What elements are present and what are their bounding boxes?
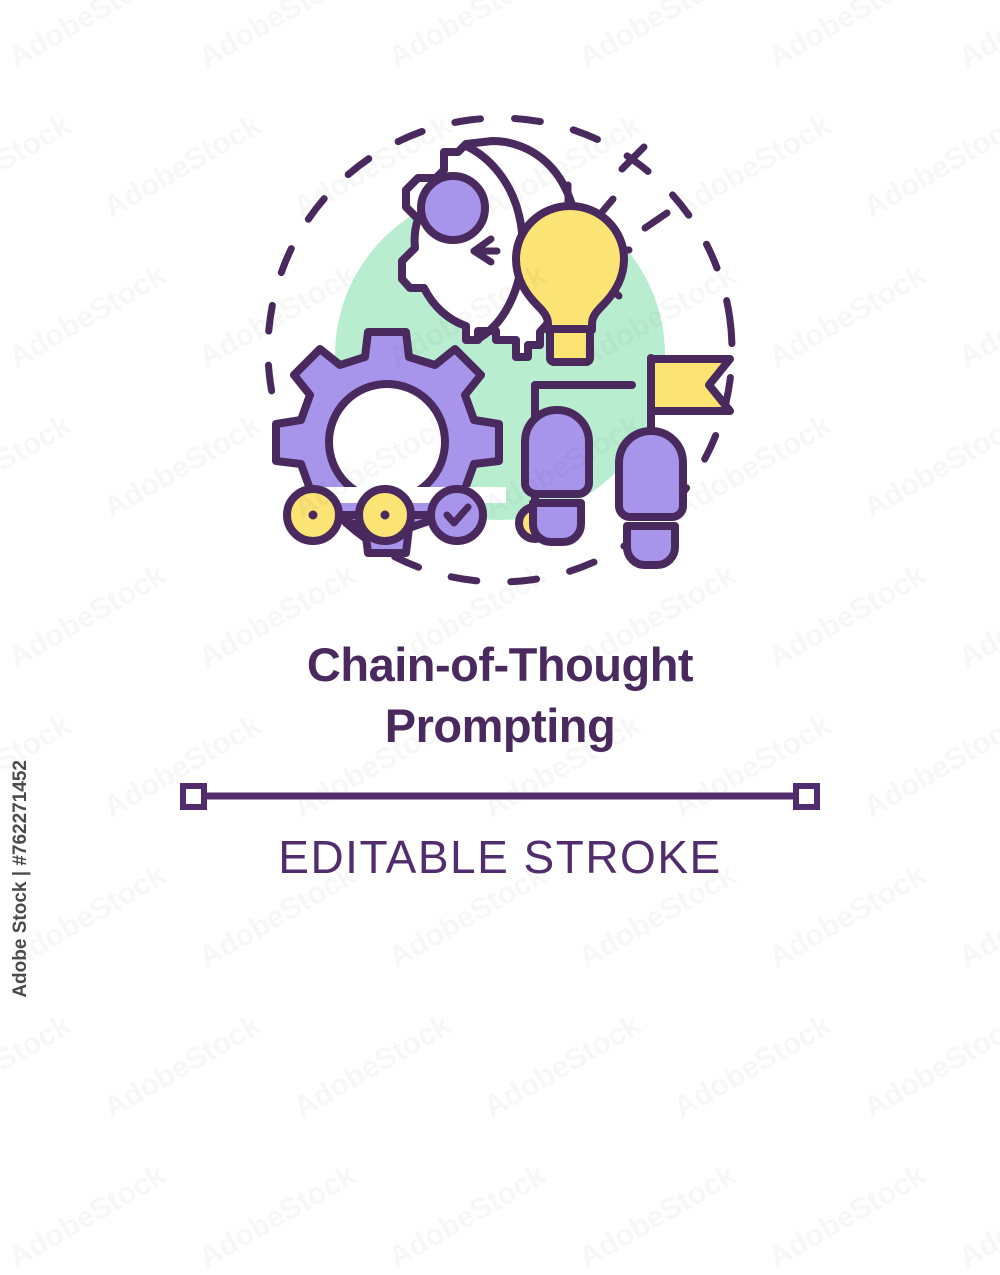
- watermark-tile: AdobeStock: [383, 1159, 552, 1275]
- head-node-circle: [421, 176, 485, 240]
- chain-nodes-group: [287, 489, 483, 541]
- editable-stroke-label: EDITABLE STROKE: [0, 822, 1000, 884]
- editable-stroke-block: EDITABLE STROKE: [0, 775, 1000, 884]
- watermark-tile: AdobeStock: [288, 1009, 457, 1126]
- separator-handle-right: [796, 786, 817, 807]
- footprint-right-sole: [619, 431, 683, 517]
- chain-node-1-dot: [309, 511, 318, 520]
- gear-center-hole: [329, 384, 445, 500]
- footprint-right-heel: [627, 526, 675, 565]
- lightbulb-ray-6: [645, 213, 667, 228]
- watermark-tile: AdobeStock: [478, 1009, 647, 1126]
- watermark-tile: AdobeStock: [858, 1009, 1000, 1126]
- title-block: Chain-of-Thought Prompting: [0, 634, 1000, 756]
- watermark-tile: AdobeStock: [3, 1159, 172, 1275]
- page-title-line1: Chain-of-Thought: [0, 634, 1000, 695]
- editable-stroke-rule: [0, 775, 1000, 817]
- watermark-tile: AdobeStock: [0, 1009, 77, 1126]
- stock-credit-watermark: Adobe Stock | #762271452: [10, 760, 32, 998]
- watermark-tile: AdobeStock: [573, 1159, 742, 1275]
- watermark-tile: AdobeStock: [668, 1009, 837, 1126]
- watermark-tile: AdobeStock: [193, 1159, 362, 1275]
- page-title-line2: Prompting: [0, 695, 1000, 756]
- watermark-tile: AdobeStock: [98, 1009, 267, 1126]
- lightbulb-base: [550, 329, 590, 362]
- chain-node-2-dot: [381, 511, 390, 520]
- footprint-left-heel: [533, 503, 581, 542]
- separator-handle-left: [183, 786, 204, 807]
- footprint-left-sole: [525, 410, 589, 494]
- goal-flag: [651, 359, 730, 411]
- watermark-tile: AdobeStock: [953, 1159, 1000, 1275]
- watermark-tile: AdobeStock: [763, 1159, 932, 1275]
- page-title: Chain-of-Thought Prompting: [0, 634, 1000, 756]
